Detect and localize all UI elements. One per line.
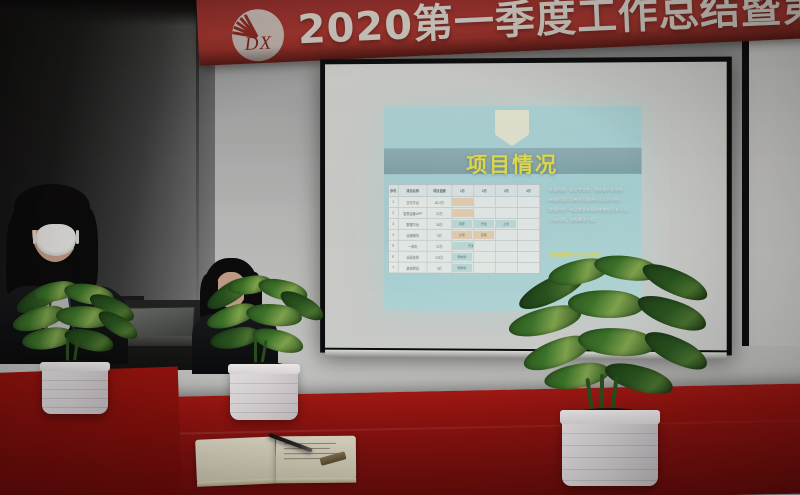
gantt-bar: 待启动 — [452, 264, 472, 272]
slide-notes: 处理问题、缺乏专业性，例如客户反馈的 接收问题后没有对问题进行深入的分析， 是客… — [549, 186, 637, 226]
gantt-bar: 上线 — [496, 220, 516, 228]
month-cell — [518, 230, 540, 240]
col-no: 序号 — [389, 185, 399, 196]
cell: 其他项目 — [398, 263, 427, 273]
plant-pot — [42, 362, 108, 414]
month-cell: 立项 — [452, 230, 474, 240]
table-row: 3数据中台18万调研开发上线 — [389, 219, 540, 230]
note-line: 接收问题后没有对问题进行深入的分析， — [549, 196, 637, 204]
gantt-bar: 开发中 — [452, 242, 474, 250]
cell: 运营支撑 — [398, 252, 427, 262]
col-month-1: 1月 — [452, 185, 474, 196]
table-row: 2智慧监管APP32万需求分析开发 — [389, 208, 540, 219]
slide-title: 项目情况 — [384, 149, 641, 179]
month-cell: 调研 — [452, 219, 474, 229]
month-cell — [474, 197, 496, 207]
cell: 3万 — [428, 263, 452, 273]
month-cell — [496, 230, 518, 240]
open-notebook — [195, 432, 362, 486]
note-line: 是客户的一句话就要求直接传递给开发人员， — [549, 206, 637, 214]
cell: 12万 — [428, 241, 452, 251]
col-name: 项目名称 — [398, 185, 427, 196]
cell: 运维服务 — [398, 230, 427, 240]
month-cell: 实施 — [474, 230, 496, 240]
cell: 7 — [389, 263, 399, 273]
potted-plant-right — [508, 256, 718, 466]
cell: 6 — [389, 252, 399, 262]
gantt-bar: 开发 — [474, 220, 494, 228]
pennant-icon — [495, 110, 529, 146]
month-cell — [496, 197, 518, 207]
col-month-3: 3月 — [496, 185, 518, 196]
note-line: 处理问题、缺乏专业性，例如客户反馈的 — [549, 186, 637, 194]
cell: 32万 — [428, 208, 452, 218]
month-cell — [474, 252, 496, 262]
cell: 2 — [389, 208, 399, 218]
month-cell — [518, 197, 540, 207]
month-cell — [474, 241, 496, 251]
table-row: 5一体化12万开发中 — [389, 241, 540, 252]
month-cell — [518, 208, 540, 218]
month-cell: 上线 — [496, 219, 518, 229]
month-cell: 开发 — [474, 219, 496, 229]
month-cell — [496, 241, 518, 251]
plant-pot — [230, 364, 298, 420]
company-logo-icon: DX — [231, 8, 285, 62]
face-mask — [36, 224, 76, 256]
table-header-row: 序号 项目名称 项目金额 1月 2月 3月 4月 — [389, 185, 540, 197]
wall-board-right — [742, 36, 800, 346]
cell: 智慧监管APP — [398, 208, 427, 218]
month-cell — [518, 219, 540, 229]
month-cell: 待启动 — [452, 263, 474, 273]
meeting-room-photo: DX 2020第一季度工作总结暨第二 项目情况 序号 项目名称 项目金额 1月 — [0, 0, 800, 495]
month-cell — [474, 208, 496, 218]
logo-text: DX — [232, 32, 285, 56]
cell: 5 — [389, 241, 399, 251]
cell: 9万 — [428, 230, 452, 240]
cell: 46.2万 — [428, 197, 452, 207]
col-month-2: 2月 — [474, 185, 496, 196]
notebook-page-left — [195, 436, 277, 483]
gantt-bar: 实施 — [474, 231, 494, 239]
gantt-bar: 调研 — [452, 220, 472, 228]
cell: 3 — [389, 219, 399, 229]
gantt-bar: 需求分析开发 — [452, 209, 474, 217]
table-row: 4运维服务9万立项实施 — [389, 230, 540, 241]
col-amount: 项目金额 — [428, 185, 452, 196]
potted-plant-left — [12, 282, 142, 422]
month-cell: 待启动 — [452, 252, 474, 262]
month-cell — [474, 263, 496, 273]
cell: 一体化 — [398, 241, 427, 251]
cell: 1 — [389, 197, 399, 207]
cell: 18万 — [428, 219, 452, 229]
cell: 数据中台 — [398, 219, 427, 229]
gantt-bar: 立项 — [452, 231, 472, 239]
plant-pot — [562, 410, 658, 486]
gantt-bar: 需求分析开发 — [452, 198, 474, 206]
month-cell: 需求分析开发 — [452, 208, 474, 218]
col-month-4: 4月 — [518, 185, 540, 196]
month-cell: 开发中 — [452, 241, 474, 251]
potted-plant-center — [204, 276, 328, 426]
cell: 4 — [389, 230, 399, 240]
cell: 交付平台 — [398, 197, 427, 207]
month-cell: 需求分析开发 — [452, 197, 474, 207]
table-row: 1交付平台46.2万需求分析开发 — [389, 197, 540, 208]
cell: 5.8万 — [428, 252, 452, 262]
gantt-bar: 待启动 — [452, 253, 472, 261]
month-cell — [518, 241, 540, 251]
note-line: 只有问题，没有解决方案。 — [549, 216, 637, 224]
month-cell — [496, 208, 518, 218]
